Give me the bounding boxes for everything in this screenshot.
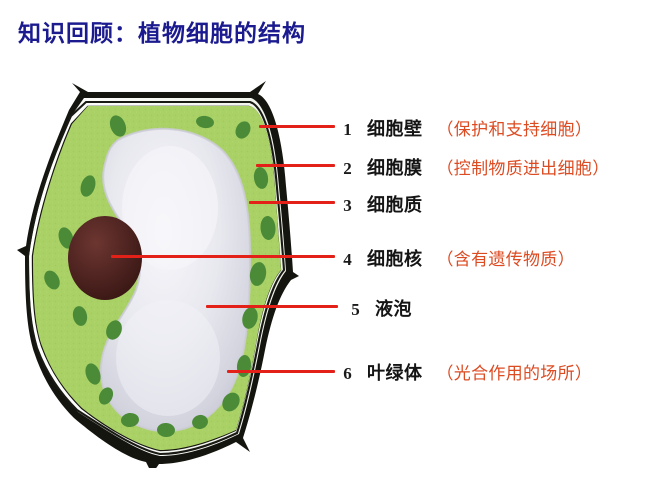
label-name: 细胞质 [367,191,423,217]
label-name: 细胞膜 [367,154,423,180]
page-title: 知识回顾：植物细胞的结构 [18,14,306,48]
label-number: 4 [341,250,354,270]
label-number: 6 [341,364,354,384]
label-row-3: 3 细胞质 [341,191,437,217]
plant-cell-diagram [0,78,300,468]
label-note: （含有遗传物质） [437,245,575,270]
label-note: （光合作用的场所） [437,359,593,384]
label-note: （控制物质进出细胞） [437,154,610,179]
leader-line-6 [227,370,335,373]
label-number: 2 [341,159,354,179]
label-number: 1 [341,120,354,140]
leader-line-3 [249,201,335,204]
label-row-6: 6 叶绿体 （光合作用的场所） [341,359,592,385]
leader-line-4 [111,255,335,258]
vacuole-highlight-lower [116,300,220,416]
label-name: 细胞核 [367,245,423,271]
leader-line-2 [256,164,335,167]
label-number: 3 [341,196,354,216]
label-name: 叶绿体 [367,359,423,385]
leader-line-1 [259,125,335,128]
label-row-4: 4 细胞核 （含有遗传物质） [341,245,575,271]
label-row-2: 2 细胞膜 （控制物质进出细胞） [341,154,610,180]
label-row-1: 1 细胞壁 （保护和支持细胞） [341,115,592,141]
label-name: 细胞壁 [367,115,423,141]
plant-cell-svg [0,78,300,468]
label-note: （保护和支持细胞） [437,115,593,140]
label-row-5: 5 液泡 [349,295,426,321]
label-name: 液泡 [375,295,412,321]
label-number: 5 [349,300,362,320]
leader-line-5 [206,305,338,308]
nucleus-region [68,216,142,300]
